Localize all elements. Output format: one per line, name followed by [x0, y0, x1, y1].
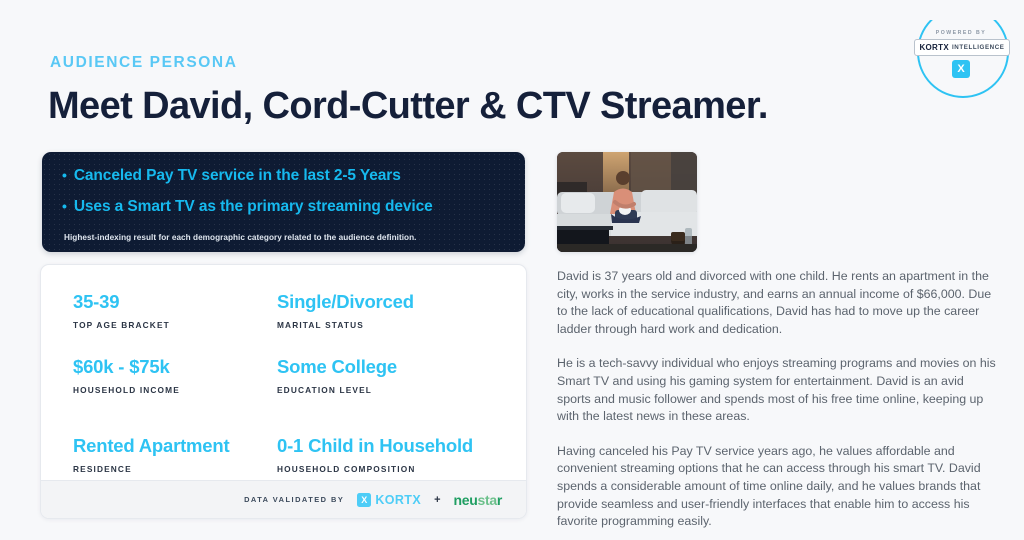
- stat-household-composition: 0-1 Child in Household HOUSEHOLD COMPOSI…: [277, 435, 481, 474]
- stat-value: 0-1 Child in Household: [277, 435, 481, 457]
- persona-photo-illustration: [557, 152, 697, 252]
- persona-paragraph-3: Having canceled his Pay TV service years…: [557, 443, 999, 531]
- powered-by-badge: POWERED BY KORTX INTELLIGENCE X: [911, 14, 1011, 86]
- kortx-x-icon: X: [952, 60, 970, 78]
- persona-slide: AUDIENCE PERSONA Meet David, Cord-Cutter…: [0, 0, 1024, 540]
- stat-value: 35-39: [73, 291, 277, 313]
- plus-icon: +: [434, 494, 440, 506]
- highlight-bullet-2: Uses a Smart TV as the primary streaming…: [62, 198, 433, 216]
- stat-residence: Rented Apartment RESIDENCE: [73, 435, 277, 474]
- badge-powered-by-label: POWERED BY: [911, 30, 1011, 36]
- highlights-footnote: Highest-indexing result for each demogra…: [64, 233, 416, 242]
- persona-description: David is 37 years old and divorced with …: [557, 268, 999, 531]
- kortx-wordmark: KORTX: [375, 493, 421, 507]
- stat-education-level: Some College EDUCATION LEVEL: [277, 356, 481, 395]
- neustar-logo: neustar: [454, 492, 503, 508]
- data-validation-bar: DATA VALIDATED BY X KORTX + neustar: [41, 480, 526, 518]
- neustar-part-1: neu: [454, 492, 478, 508]
- demographics-card: 35-39 TOP AGE BRACKET Single/Divorced MA…: [40, 264, 527, 519]
- badge-product-label: INTELLIGENCE: [952, 44, 1005, 51]
- badge-circle-gap: [911, 4, 1011, 20]
- demographics-row: $60k - $75k HOUSEHOLD INCOME Some Colleg…: [73, 356, 526, 395]
- stat-label: MARITAL STATUS: [277, 320, 481, 330]
- stat-top-age-bracket: 35-39 TOP AGE BRACKET: [73, 291, 277, 330]
- kortx-logo: X KORTX: [357, 493, 421, 507]
- persona-paragraph-2: He is a tech-savvy individual who enjoys…: [557, 355, 999, 425]
- neustar-part-3: r: [497, 492, 502, 508]
- highlight-bullet-1: Canceled Pay TV service in the last 2-5 …: [62, 167, 401, 185]
- neustar-part-2: sta: [478, 492, 497, 508]
- persona-photo: [557, 152, 697, 252]
- stat-label: HOUSEHOLD COMPOSITION: [277, 464, 481, 474]
- validated-by-label: DATA VALIDATED BY: [244, 495, 344, 504]
- stat-label: TOP AGE BRACKET: [73, 320, 277, 330]
- demographics-row: 35-39 TOP AGE BRACKET Single/Divorced MA…: [73, 291, 526, 330]
- stat-value: Single/Divorced: [277, 291, 481, 313]
- badge-brand-label: KORTX: [919, 43, 949, 52]
- stat-label: RESIDENCE: [73, 464, 277, 474]
- stat-value: $60k - $75k: [73, 356, 277, 378]
- badge-nameplate: KORTX INTELLIGENCE: [914, 39, 1010, 56]
- stat-marital-status: Single/Divorced MARITAL STATUS: [277, 291, 481, 330]
- stat-label: EDUCATION LEVEL: [277, 385, 481, 395]
- eyebrow-label: AUDIENCE PERSONA: [50, 54, 238, 72]
- stat-value: Some College: [277, 356, 481, 378]
- demographics-row: Rented Apartment RESIDENCE 0-1 Child in …: [73, 435, 526, 474]
- kortx-x-icon: X: [357, 493, 371, 507]
- persona-paragraph-1: David is 37 years old and divorced with …: [557, 268, 999, 338]
- page-title: Meet David, Cord-Cutter & CTV Streamer.: [48, 85, 768, 128]
- highlights-card: Canceled Pay TV service in the last 2-5 …: [42, 152, 525, 252]
- stat-household-income: $60k - $75k HOUSEHOLD INCOME: [73, 356, 277, 395]
- stat-label: HOUSEHOLD INCOME: [73, 385, 277, 395]
- demographics-grid: 35-39 TOP AGE BRACKET Single/Divorced MA…: [41, 265, 526, 474]
- stat-value: Rented Apartment: [73, 435, 277, 457]
